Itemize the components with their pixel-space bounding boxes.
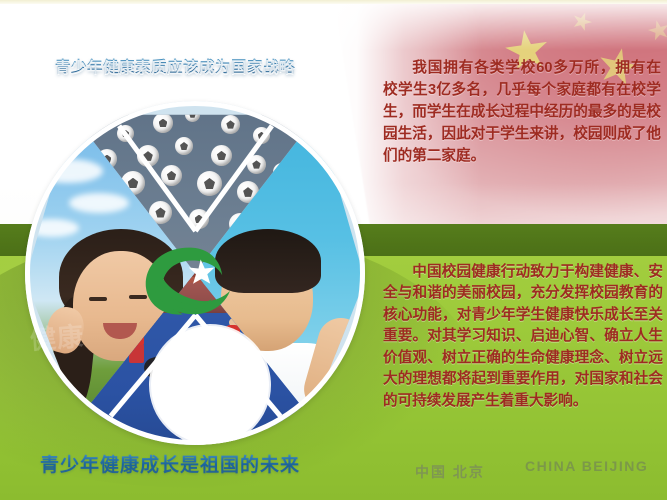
watermark-english: CHINA BEIJING (525, 458, 648, 474)
page-title: 青少年健康素质应该成为国家战略 (55, 55, 345, 77)
soccer-ball-icon (153, 113, 173, 133)
cloud-shape (25, 219, 79, 237)
soccer-ball-icon (197, 171, 222, 196)
footer-slogan: 青少年健康成长是祖国的未来 (40, 450, 360, 477)
soccer-ball-icon (175, 137, 193, 155)
intro-paragraph: 我国拥有各类学校60多万所，拥有在校学生3亿多名，几乎每个家庭都有在校学生，而学… (383, 58, 661, 167)
logo-backdrop-circle (151, 326, 269, 444)
watermark-chinese: 中国 北京 (415, 462, 485, 482)
ghost-watermark: 健康 (29, 316, 85, 357)
soccer-ball-icon (221, 115, 240, 134)
mission-paragraph: 中国校园健康行动致力于构建健康、安全与和谐的美丽校园，充分发挥校园教育的核心功能… (383, 262, 663, 412)
cloud-shape (69, 193, 129, 213)
soccer-ball-icon (211, 145, 232, 166)
girl-eye-left (89, 297, 107, 301)
poster-canvas: 青少年健康素质应该成为国家战略 我国拥有各类学校60多万所，拥有在校学生3亿多名… (0, 0, 667, 500)
soccer-ball-icon (185, 107, 200, 122)
china-campus-health-action-logo-icon (136, 238, 234, 330)
